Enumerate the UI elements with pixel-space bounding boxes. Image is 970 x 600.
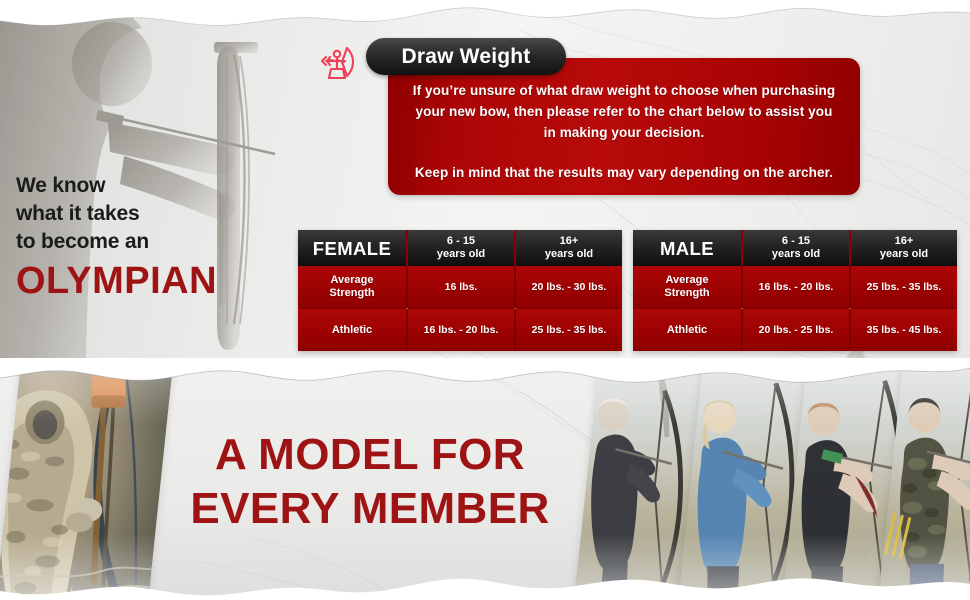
row-label-line1: Average xyxy=(665,274,708,286)
torn-paper-edge-middle xyxy=(0,358,970,394)
page-title: Draw Weight xyxy=(402,45,531,69)
row-label-line2: Strength xyxy=(664,287,709,299)
column-header-line1: 6 - 15 xyxy=(782,235,810,247)
cell-value: 20 lbs. - 30 lbs. xyxy=(514,266,622,308)
callout-body: If you’re unsure of what draw weight to … xyxy=(388,80,860,183)
draw-weight-callout: If you’re unsure of what draw weight to … xyxy=(388,58,860,195)
row-label-athletic: Athletic xyxy=(633,308,741,351)
torn-paper-edge-bottom xyxy=(0,574,970,600)
bottom-headline-line-2: EVERY MEMBER xyxy=(170,482,570,536)
table-row: Athletic 16 lbs. - 20 lbs. 25 lbs. - 35 … xyxy=(298,308,622,351)
row-label-average-strength: Average Strength xyxy=(633,266,741,308)
camo-bowhunter-photo xyxy=(0,372,174,600)
row-label-athletic: Athletic xyxy=(298,308,406,351)
cell-value: 20 lbs. - 25 lbs. xyxy=(741,308,849,351)
cell-value: 35 lbs. - 45 lbs. xyxy=(849,308,957,351)
camo-hunter-figure xyxy=(0,372,174,600)
cell-value: 25 lbs. - 35 lbs. xyxy=(514,308,622,351)
bottom-headline-block: A MODEL FOR EVERY MEMBER xyxy=(170,428,570,536)
headline-line-2: what it takes xyxy=(16,200,286,228)
table-group-label-male: MALE xyxy=(633,230,741,266)
draw-weight-table-female: FEMALE 6 - 15 years old 16+ years old Av… xyxy=(298,230,622,351)
row-label-average-strength: Average Strength xyxy=(298,266,406,308)
cell-value: 16 lbs. xyxy=(406,266,514,308)
table-group-label-female: FEMALE xyxy=(298,230,406,266)
cell-value: 25 lbs. - 35 lbs. xyxy=(849,266,957,308)
headline-line-3: to become an xyxy=(16,228,286,256)
cell-value: 16 lbs. - 20 lbs. xyxy=(406,308,514,351)
table-column-header-0: 6 - 15 years old xyxy=(741,230,849,266)
column-header-line1: 16+ xyxy=(560,235,579,247)
headline-emphasis: OLYMPIAN xyxy=(16,258,286,304)
callout-paragraph-2: Keep in mind that the results may vary d… xyxy=(412,162,836,183)
banner-canvas: If you’re unsure of what draw weight to … xyxy=(0,0,970,600)
column-header-line2: years old xyxy=(545,248,593,260)
table-header-row: FEMALE 6 - 15 years old 16+ years old xyxy=(298,230,622,266)
bottom-headline-line-1: A MODEL FOR xyxy=(170,428,570,482)
headline-line-1: We know xyxy=(16,172,286,200)
table-row: Athletic 20 lbs. - 25 lbs. 35 lbs. - 45 … xyxy=(633,308,957,351)
table-column-header-1: 16+ years old xyxy=(514,230,622,266)
row-label-line1: Average xyxy=(330,274,373,286)
table-row: Average Strength 16 lbs. 20 lbs. - 30 lb… xyxy=(298,266,622,308)
column-header-line2: years old xyxy=(772,248,820,260)
column-header-line2: years old xyxy=(880,248,928,260)
draw-weight-title-pill: Draw Weight xyxy=(366,38,566,75)
column-header-line2: years old xyxy=(437,248,485,260)
column-header-line1: 16+ xyxy=(895,235,914,247)
row-label-line2: Strength xyxy=(329,287,374,299)
column-header-line1: 6 - 15 xyxy=(447,235,475,247)
table-row: Average Strength 16 lbs. - 20 lbs. 25 lb… xyxy=(633,266,957,308)
headline-block: We know what it takes to become an OLYMP… xyxy=(16,172,286,304)
archer-bow-icon xyxy=(314,38,362,86)
table-column-header-0: 6 - 15 years old xyxy=(406,230,514,266)
cell-value: 16 lbs. - 20 lbs. xyxy=(741,266,849,308)
draw-weight-table-male: MALE 6 - 15 years old 16+ years old Aver… xyxy=(633,230,957,351)
callout-paragraph-1: If you’re unsure of what draw weight to … xyxy=(412,80,836,143)
table-column-header-1: 16+ years old xyxy=(849,230,957,266)
torn-paper-edge-top xyxy=(0,0,970,34)
table-header-row: MALE 6 - 15 years old 16+ years old xyxy=(633,230,957,266)
